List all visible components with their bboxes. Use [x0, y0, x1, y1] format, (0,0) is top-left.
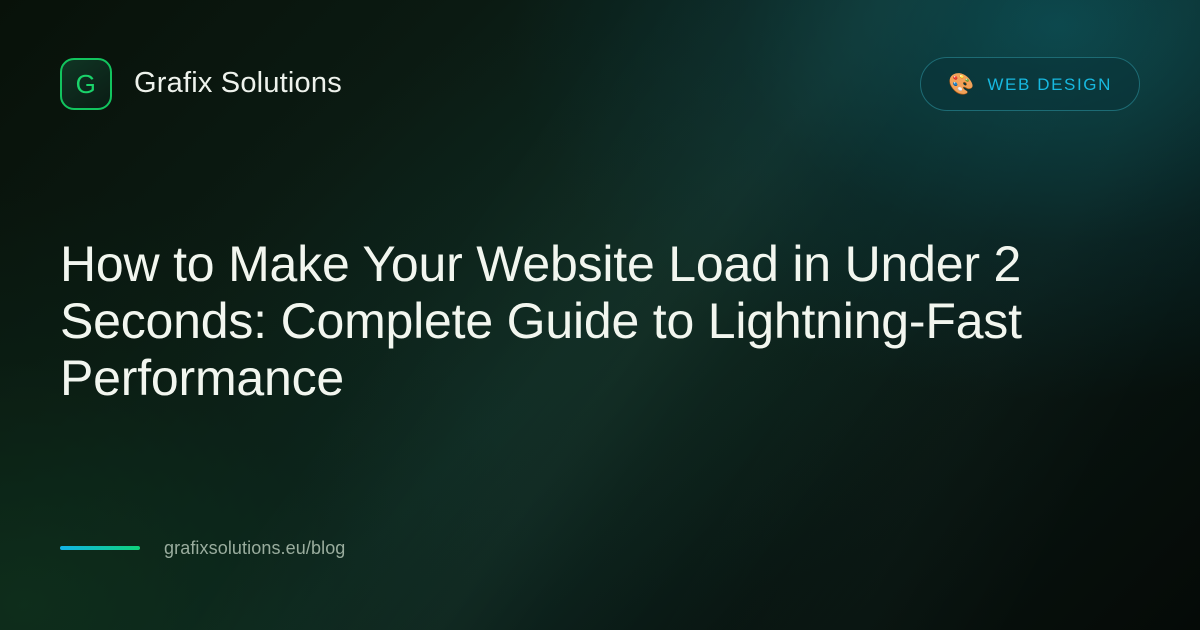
title-area: How to Make Your Website Load in Under 2…: [60, 112, 1140, 536]
category-badge-label: WEB DESIGN: [987, 76, 1112, 93]
page-title: How to Make Your Website Load in Under 2…: [60, 236, 1065, 407]
logo-letter: G: [76, 71, 97, 97]
social-share-card: G Grafix Solutions 🎨 WEB DESIGN How to M…: [0, 0, 1200, 630]
brand-lockup[interactable]: G Grafix Solutions: [60, 58, 342, 110]
site-url: grafixsolutions.eu/blog: [164, 539, 345, 557]
brand-name: Grafix Solutions: [134, 68, 342, 100]
grafix-logo-mark[interactable]: G: [60, 58, 112, 110]
card-header: G Grafix Solutions 🎨 WEB DESIGN: [60, 56, 1140, 112]
card-footer: grafixsolutions.eu/blog: [60, 536, 1140, 560]
card-content: G Grafix Solutions 🎨 WEB DESIGN How to M…: [0, 0, 1200, 630]
category-badge[interactable]: 🎨 WEB DESIGN: [920, 57, 1140, 111]
artist-palette-icon: 🎨: [948, 74, 974, 95]
accent-bar: [60, 546, 140, 550]
